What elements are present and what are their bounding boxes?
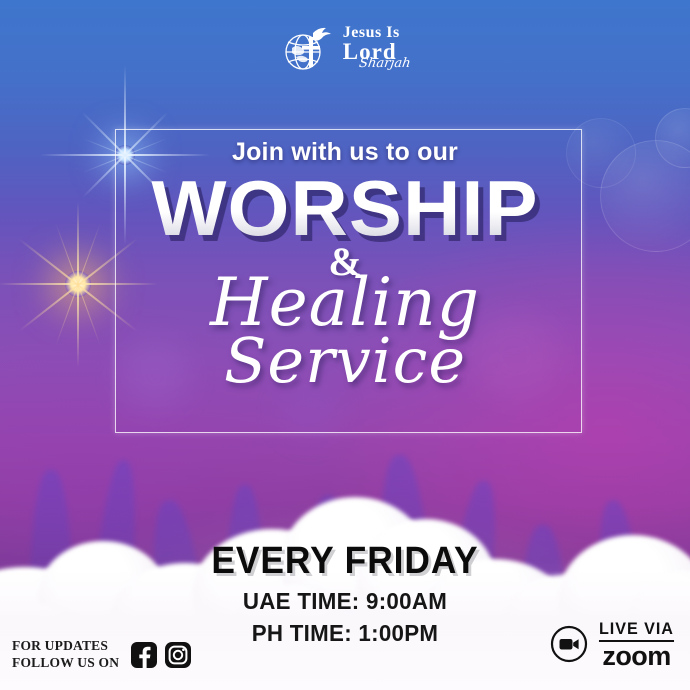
video-camera-icon [550, 625, 588, 663]
globe-cross-dove-icon [280, 22, 336, 74]
follow-line-1: FOR UPDATES [12, 638, 119, 655]
headline-intro: Join with us to our [0, 138, 690, 167]
follow-us-text: FOR UPDATES FOLLOW US ON [12, 638, 119, 672]
follow-us-block: FOR UPDATES FOLLOW US ON [12, 638, 191, 672]
facebook-icon[interactable] [131, 642, 157, 668]
event-poster: Jesus Is Lord Sharjah Join with us to ou… [0, 0, 690, 690]
live-via-zoom-block: LIVE VIA zoom [550, 619, 676, 670]
headline-script-line-2: Service [0, 334, 690, 389]
schedule-time-uae: UAE TIME: 9:00AM [10, 588, 679, 615]
live-via-label: LIVE VIA [599, 619, 674, 642]
headline-main: WORSHIP [0, 171, 690, 246]
instagram-icon[interactable] [165, 642, 191, 668]
follow-line-2: FOLLOW US ON [12, 655, 119, 672]
brand-logo: Jesus Is Lord Sharjah [0, 22, 690, 74]
zoom-wordmark: zoom [597, 642, 676, 670]
schedule-day: EVERY FRIDAY [24, 540, 666, 583]
headline-block: Join with us to our WORSHIP & Healing Se… [0, 138, 690, 389]
social-links [131, 642, 191, 668]
logo-line-3: Sharjah [358, 58, 411, 70]
